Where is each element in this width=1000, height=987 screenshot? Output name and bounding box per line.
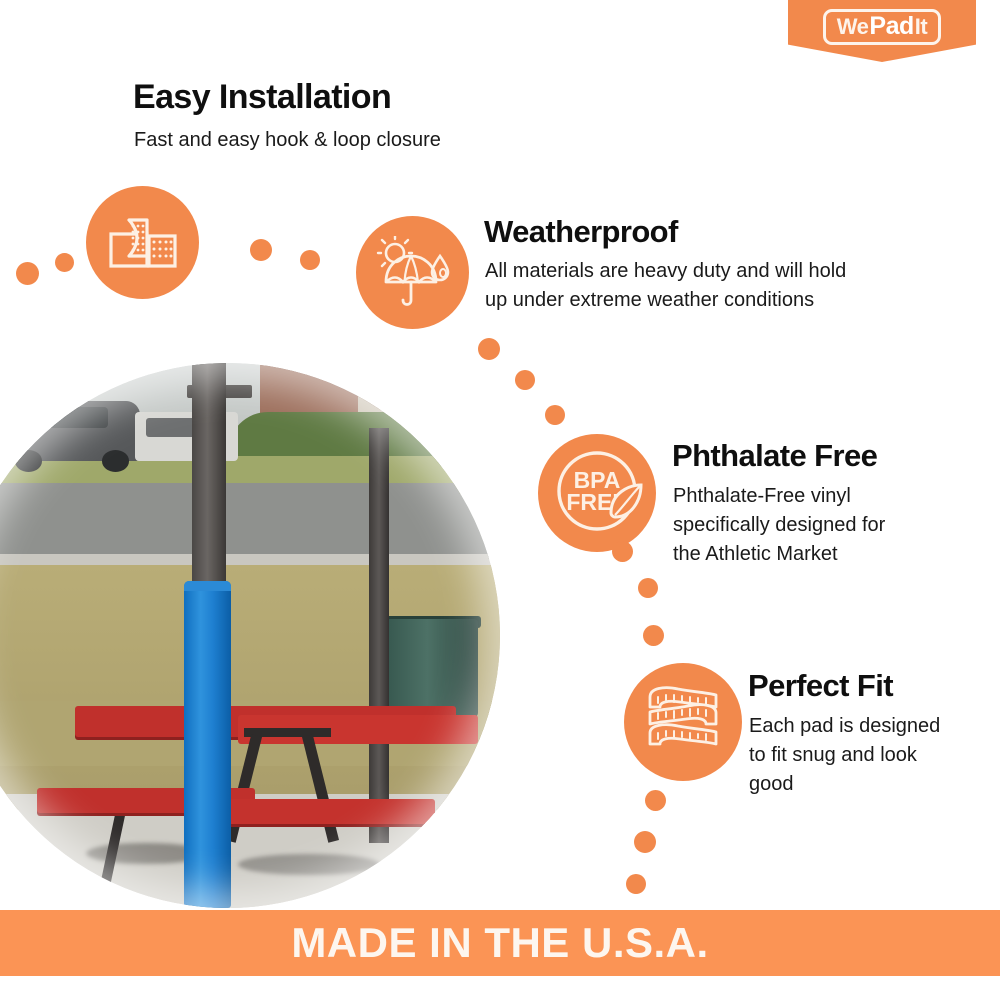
desc-line: Each pad is designed	[749, 712, 940, 741]
sun-umbrella-rain-icon	[374, 236, 452, 310]
logo-wordmark: We Pad It	[823, 9, 941, 45]
connector-dot	[300, 250, 320, 270]
desc-line: good	[749, 770, 940, 799]
connector-dot	[645, 790, 666, 811]
connector-dot	[545, 405, 565, 425]
connector-dot	[612, 541, 633, 562]
perfect-fit-icon-circle	[624, 663, 742, 781]
connector-dot	[250, 239, 272, 261]
feature-desc-phthalate-free: Phthalate-Free vinyl specifically design…	[673, 482, 885, 569]
connector-dot	[55, 253, 74, 272]
logo-text-pad: Pad	[868, 14, 914, 39]
feature-desc-perfect-fit: Each pad is designed to fit snug and loo…	[749, 712, 940, 799]
measuring-tape-icon	[638, 677, 728, 767]
desc-line: specifically designed for	[673, 511, 885, 540]
desc-line: All materials are heavy duty and will ho…	[485, 257, 846, 286]
hook-and-loop-icon	[107, 212, 179, 274]
logo-text-we: We	[837, 16, 869, 38]
hook-and-loop-icon-circle	[86, 186, 199, 299]
desc-line: to fit snug and look	[749, 741, 940, 770]
phthalate-free-icon-circle: BPA FREE	[538, 434, 656, 552]
brand-logo: We Pad It	[788, 0, 976, 62]
logo-text-it: It	[915, 16, 927, 38]
made-in-usa-banner: MADE IN THE U.S.A.	[0, 910, 1000, 976]
connector-dot	[638, 578, 658, 598]
feature-title-weatherproof: Weatherproof	[484, 214, 678, 250]
feature-title-perfect-fit: Perfect Fit	[748, 668, 893, 704]
connector-dot	[515, 370, 535, 390]
bpa-free-leaf-icon: BPA FREE	[545, 441, 649, 545]
desc-line: up under extreme weather conditions	[485, 286, 846, 315]
connector-dot	[634, 831, 656, 853]
made-in-usa-text: MADE IN THE U.S.A.	[291, 919, 708, 967]
desc-line: Fast and easy hook & loop closure	[134, 126, 441, 154]
infographic-page: We Pad It Easy Installation Fast and eas…	[0, 0, 1000, 987]
desc-line: Phthalate-Free vinyl	[673, 482, 885, 511]
connector-dot	[643, 625, 664, 646]
weatherproof-icon-circle	[356, 216, 469, 329]
feature-title-phthalate-free: Phthalate Free	[672, 438, 877, 474]
connector-dot	[16, 262, 39, 285]
feature-desc-easy-installation: Fast and easy hook & loop closure	[134, 126, 441, 154]
connector-dot	[626, 874, 646, 894]
product-photo	[0, 363, 500, 908]
connector-dot	[478, 338, 500, 360]
desc-line: the Athletic Market	[673, 540, 885, 569]
feature-desc-weatherproof: All materials are heavy duty and will ho…	[485, 257, 846, 315]
feature-title-easy-installation: Easy Installation	[133, 78, 391, 117]
